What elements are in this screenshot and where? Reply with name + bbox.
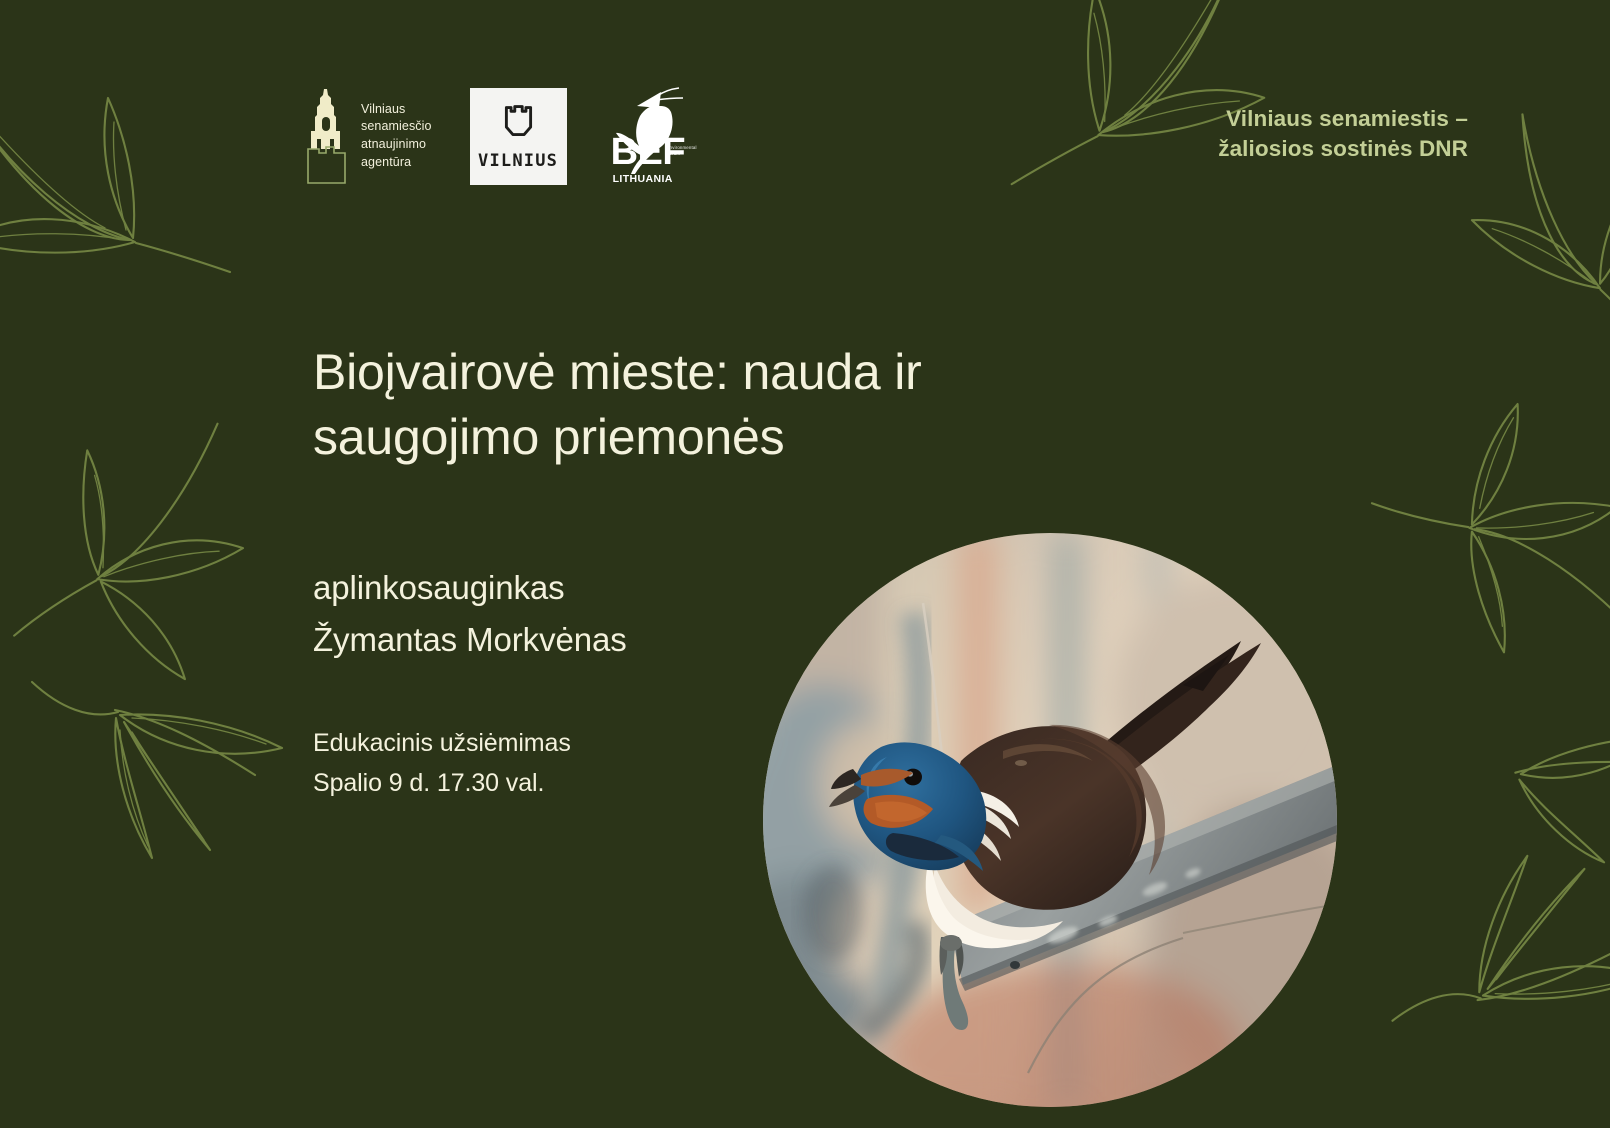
- partner-logo-row: Vilniaus senamiesčio atnaujinimo agentūr…: [300, 86, 697, 186]
- tower-building-icon: [300, 87, 352, 185]
- logo-bef-country: LITHUANIA: [613, 173, 673, 185]
- speaker-block: aplinkosauginkas Žymantas Morkvėnas: [313, 562, 922, 666]
- leaf-ornament-mid-right: [1338, 375, 1610, 684]
- event-details: Edukacinis užsiėmimas Spalio 9 d. 17.30 …: [313, 723, 922, 803]
- campaign-tagline: Vilniaus senamiestis – žaliosios sostinė…: [1218, 104, 1468, 163]
- leaf-ornament-bottom-left: [20, 600, 320, 880]
- logo-vsaa-label: Vilniaus senamiesčio atnaujinimo agentūr…: [361, 101, 432, 172]
- castle-tower-icon: [497, 101, 540, 147]
- leaf-ornament-top-left: [0, 80, 260, 380]
- logo-vilnius-wordmark: VILNIUS: [478, 151, 558, 171]
- logo-vilniaus-senamiescio-atnaujinimo-agentura[interactable]: Vilniaus senamiesčio atnaujinimo agentūr…: [300, 87, 432, 185]
- logo-bef-wordmark: BEF: [611, 133, 686, 171]
- main-content: Bioįvairovė mieste: nauda ir saugojimo p…: [313, 340, 922, 803]
- logo-bef-lithuania[interactable]: Baltic Environmental Forum BEF LITHUANIA: [605, 86, 697, 186]
- logo-vilnius-city[interactable]: VILNIUS: [470, 88, 567, 185]
- event-title: Bioįvairovė mieste: nauda ir saugojimo p…: [313, 340, 922, 470]
- leaf-ornament-bottom-right: [1373, 822, 1610, 1127]
- leaf-ornament-mid-left: [0, 402, 305, 728]
- leaf-ornament-right-edge: [1401, 615, 1610, 926]
